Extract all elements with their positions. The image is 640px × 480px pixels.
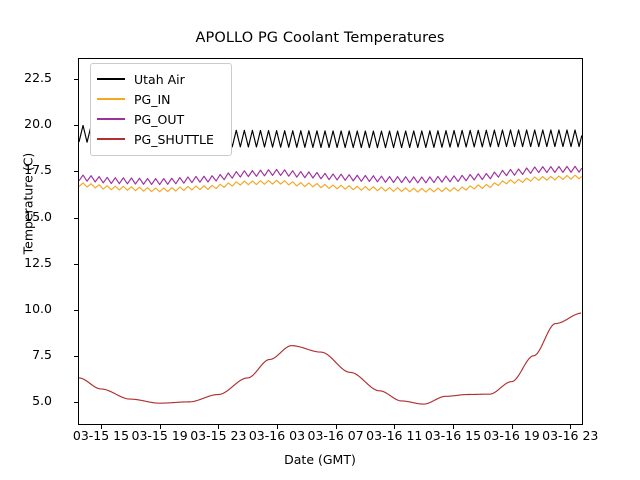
legend-item-label: PG_IN bbox=[134, 92, 171, 107]
series-line-pg-out bbox=[79, 166, 582, 184]
y-tick-label: 7.5 bbox=[0, 349, 52, 362]
x-tick-mark bbox=[570, 425, 571, 429]
y-tick-label: 5.0 bbox=[0, 395, 52, 408]
y-tick-label: 10.0 bbox=[0, 303, 52, 316]
x-tick-mark bbox=[160, 425, 161, 429]
x-tick-mark bbox=[218, 425, 219, 429]
legend-item[interactable]: PG_SHUTTLE bbox=[97, 129, 225, 149]
legend-item[interactable]: PG_OUT bbox=[97, 109, 225, 129]
legend-item-label: PG_OUT bbox=[134, 112, 184, 127]
x-tick-mark bbox=[512, 425, 513, 429]
x-tick-label: 03-16 23 bbox=[525, 430, 615, 443]
y-tick-label: 15.0 bbox=[0, 211, 52, 224]
series-line-pg-shuttle bbox=[79, 313, 581, 404]
legend-color-swatch bbox=[97, 98, 125, 100]
y-tick-label: 17.5 bbox=[0, 164, 52, 177]
legend-item-label: Utah Air bbox=[134, 72, 185, 87]
x-tick-mark bbox=[453, 425, 454, 429]
legend-item-label: PG_SHUTTLE bbox=[134, 132, 214, 147]
legend-item[interactable]: PG_IN bbox=[97, 89, 225, 109]
chart-legend: Utah AirPG_INPG_OUTPG_SHUTTLE bbox=[90, 63, 232, 156]
y-tick-label: 12.5 bbox=[0, 257, 52, 270]
y-tick-label: 22.5 bbox=[0, 72, 52, 85]
y-tick-label: 20.0 bbox=[0, 118, 52, 131]
legend-item[interactable]: Utah Air bbox=[97, 69, 225, 89]
x-tick-mark bbox=[394, 425, 395, 429]
x-tick-mark bbox=[336, 425, 337, 429]
legend-color-swatch bbox=[97, 138, 125, 140]
x-tick-mark bbox=[101, 425, 102, 429]
x-axis-label: Date (GMT) bbox=[0, 452, 640, 467]
chart-title: APOLLO PG Coolant Temperatures bbox=[0, 30, 640, 46]
legend-color-swatch bbox=[97, 78, 125, 80]
chart-figure: APOLLO PG Coolant Temperatures Temperatu… bbox=[0, 0, 640, 480]
x-tick-mark bbox=[277, 425, 278, 429]
legend-color-swatch bbox=[97, 118, 125, 120]
